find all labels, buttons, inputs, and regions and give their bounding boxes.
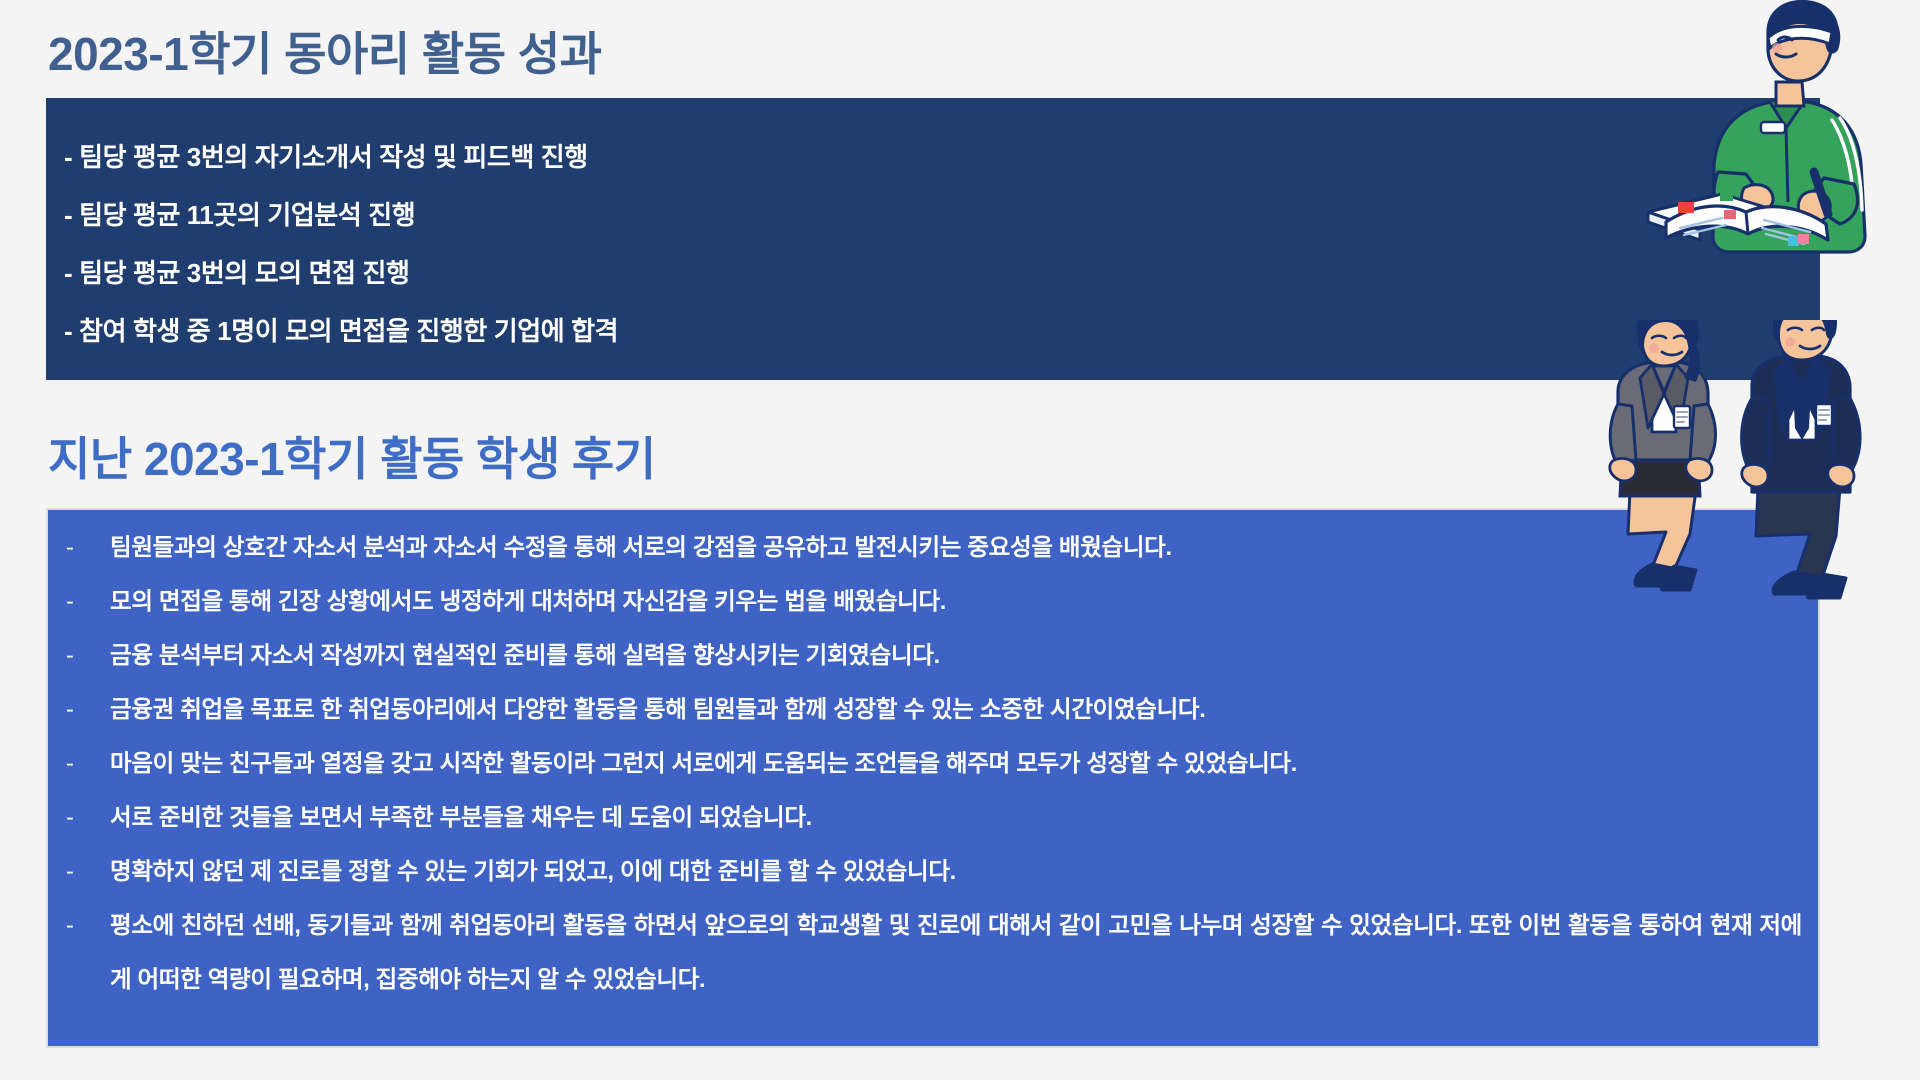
review-text: 평소에 친하던 선배, 동기들과 함께 취업동아리 활동을 하면서 앞으로의 학… [110,898,1802,1006]
review-item: - 모의 면접을 통해 긴장 상황에서도 냉정하게 대처하며 자신감을 키우는 … [66,574,1802,628]
section-two-title: 지난 2023-1학기 활동 학생 후기 [48,423,656,489]
review-text: 팀원들과의 상호간 자소서 분석과 자소서 수정을 통해 서로의 강점을 공유하… [110,520,1802,574]
review-text: 금융 분석부터 자소서 작성까지 현실적인 준비를 통해 실력을 향상시키는 기… [110,628,1802,682]
review-text: 명확하지 않던 제 진로를 정할 수 있는 기회가 되었고, 이에 대한 준비를… [110,844,1802,898]
review-text: 모의 면접을 통해 긴장 상황에서도 냉정하게 대처하며 자신감을 키우는 법을… [110,574,1802,628]
achievement-item: - 팀당 평균 3번의 모의 면접 진행 [46,244,1820,302]
achievement-item: - 팀당 평균 11곳의 기업분석 진행 [46,186,1820,244]
bullet-dash: - [66,628,110,682]
review-item: - 평소에 친하던 선배, 동기들과 함께 취업동아리 활동을 하면서 앞으로의… [66,898,1802,1006]
bullet-dash: - [66,844,110,898]
review-item: - 서로 준비한 것들을 보면서 부족한 부분들을 채우는 데 도움이 되었습니… [66,790,1802,844]
review-item: - 마음이 맞는 친구들과 열정을 갖고 시작한 활동이라 그런지 서로에게 도… [66,736,1802,790]
review-text: 금융권 취업을 목표로 한 취업동아리에서 다양한 활동을 통해 팀원들과 함께… [110,682,1802,736]
review-text: 서로 준비한 것들을 보면서 부족한 부분들을 채우는 데 도움이 되었습니다. [110,790,1802,844]
review-item: - 금융 분석부터 자소서 작성까지 현실적인 준비를 통해 실력을 향상시키는… [66,628,1802,682]
review-text: 마음이 맞는 친구들과 열정을 갖고 시작한 활동이라 그런지 서로에게 도움되… [110,736,1802,790]
achievements-box: - 팀당 평균 3번의 자기소개서 작성 및 피드백 진행 - 팀당 평균 11… [46,98,1820,380]
bullet-dash: - [66,790,110,844]
review-item: - 명확하지 않던 제 진로를 정할 수 있는 기회가 되었고, 이에 대한 준… [66,844,1802,898]
bullet-dash: - [66,736,110,790]
bullet-dash: - [66,520,110,574]
section-one-title: 2023-1학기 동아리 활동 성과 [48,18,601,84]
achievement-item: - 팀당 평균 3번의 자기소개서 작성 및 피드백 진행 [46,128,1820,186]
bullet-dash: - [66,682,110,736]
reviews-box: - 팀원들과의 상호간 자소서 분석과 자소서 수정을 통해 서로의 강점을 공… [46,508,1820,1048]
bullet-dash: - [66,898,110,952]
achievement-item: - 참여 학생 중 1명이 모의 면접을 진행한 기업에 합격 [46,302,1820,360]
bullet-dash: - [66,574,110,628]
review-item: - 팀원들과의 상호간 자소서 분석과 자소서 수정을 통해 서로의 강점을 공… [66,520,1802,574]
review-item: - 금융권 취업을 목표로 한 취업동아리에서 다양한 활동을 통해 팀원들과 … [66,682,1802,736]
slide-root: 2023-1학기 동아리 활동 성과 - 팀당 평균 3번의 자기소개서 작성 … [0,0,1920,1080]
